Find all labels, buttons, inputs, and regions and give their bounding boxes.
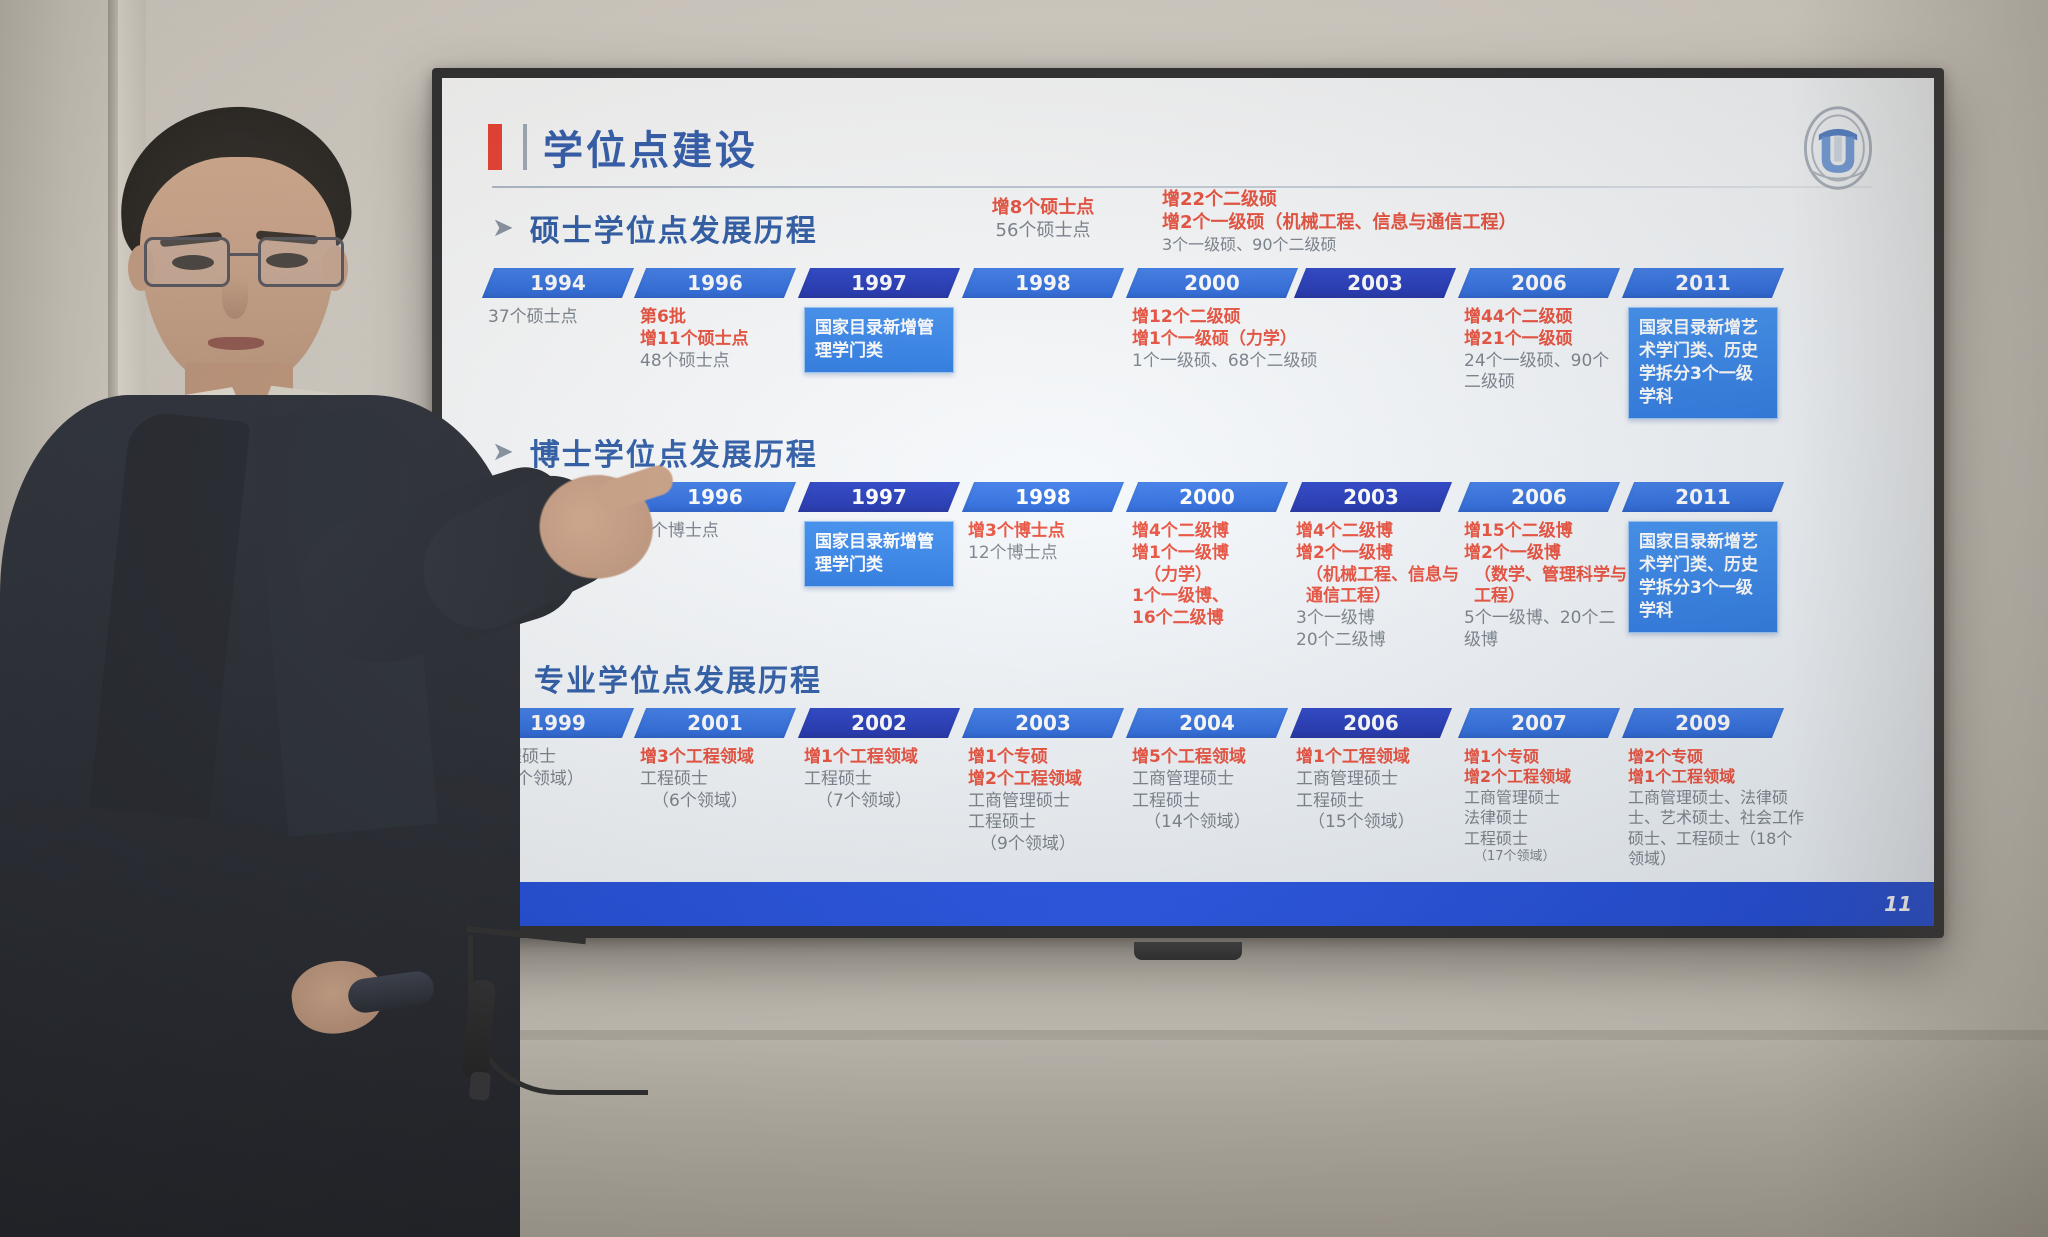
timeline-cell[interactable]: 2011 国家目录新增艺术学门类、历史学拆分3个一级学科 [1628, 482, 1778, 633]
presenter-nose [222, 277, 248, 319]
timeline-cell[interactable]: 2007 增1个专硕 增2个工程领域 工商管理硕士 法律硕士 工程硕士 （17个… [1464, 708, 1614, 866]
timeline-cell[interactable]: 1998 [968, 268, 1118, 298]
cell-line: 工程硕士 [968, 812, 1130, 834]
cell-line: 工商管理硕士、法律硕士、艺术硕士、社会工作硕士、工程硕士（18个领域） [1628, 788, 1804, 870]
cell-line: 增15个二级博 [1464, 521, 1629, 543]
timeline-cell[interactable]: 2002 增1个工程领域 工程硕士 （7个领域） [804, 708, 954, 812]
cell-line: 1个一级硕、68个二级硕 [1132, 351, 1452, 373]
wall-mounted-display[interactable]: 学位点建设 ➤ 硕士学位点发展历程 增8个硕士点 56个硕士点 [432, 68, 1944, 938]
timeline-cell[interactable]: 2003 增1个专硕 增2个工程领域 工商管理硕士 工程硕士 （9个领域） [968, 708, 1118, 856]
cell-line: 20个二级博 [1296, 630, 1464, 652]
cell-line: 1个一级博、 [1132, 586, 1282, 608]
cell-line: 增5个工程领域 [1132, 747, 1302, 769]
timeline-cell[interactable]: 2000 增12个二级硕 增1个一级硕（力学） 1个一级硕、68个二级硕 [1132, 268, 1292, 372]
cell-line: （数学、管理科学与工程） [1464, 565, 1629, 609]
presenter-mouth [208, 337, 264, 350]
year-label: 1997 [804, 268, 954, 298]
cell-line: 工程硕士 [640, 769, 802, 791]
timeline-cell[interactable]: 2001 增3个工程领域 工程硕士 （6个领域） [640, 708, 790, 812]
year-label: 2000 [1132, 482, 1282, 512]
cell-line: 增2个一级博 [1464, 543, 1629, 565]
timeline-row-masters: 1994 37个硕士点 1996 第6批 增11个硕士点 48个硕士点 1997… [488, 268, 1908, 408]
timeline-cell[interactable]: 2006 增44个二级硕 增21个一级硕 24个一级硕、90个二级硕 [1464, 268, 1614, 394]
cell-line: 工程硕士 [1132, 791, 1302, 813]
cell-line: 增44个二级硕 [1464, 307, 1624, 329]
callout-line: 增8个硕士点 [928, 196, 1158, 219]
glasses-lens-right [258, 237, 344, 287]
cell-line: 工商管理硕士 [968, 791, 1130, 813]
callout-masters-1: 增8个硕士点 56个硕士点 [928, 196, 1158, 243]
cell-line: （15个领域） [1296, 812, 1466, 834]
timeline-cell[interactable]: 1997 国家目录新增管理学门类 [804, 482, 954, 587]
presentation-slide: 学位点建设 ➤ 硕士学位点发展历程 增8个硕士点 56个硕士点 [442, 78, 1934, 926]
cell-line: 增3个工程领域 [640, 747, 802, 769]
cell-line: 增12个二级硕 [1132, 307, 1452, 329]
cell-line: 工程硕士 [1464, 829, 1624, 849]
callout-line: 增2个一级硕（机械工程、信息与通信工程） [1162, 211, 1592, 234]
timeline-cell[interactable]: 2003 [1300, 268, 1450, 298]
cell-line: 增3个博士点 [968, 521, 1118, 543]
timeline-cell[interactable]: 2003 增4个二级博 增2个一级博 （机械工程、信息与通信工程） 3个一级博 … [1296, 482, 1446, 652]
timeline-cell[interactable]: 2000 增4个二级博 增1个一级博 （力学） 1个一级博、 16个二级博 [1132, 482, 1282, 630]
year-label: 1996 [640, 268, 790, 298]
slide-footer-bar [442, 882, 1934, 926]
timeline-row-professional: 1999 工程硕士 （3个领域） 2001 增3个工程领域 工程硕士 （6个领域… [488, 708, 1908, 888]
callout-line: 56个硕士点 [928, 219, 1158, 242]
callout-line: 增22个二级硕 [1162, 188, 1592, 211]
cell-line: （7个领域） [804, 791, 966, 813]
year-label: 2006 [1464, 482, 1614, 512]
cell-line: 增21个一级硕 [1464, 329, 1624, 351]
cell-line: 工程硕士 [1296, 791, 1466, 813]
cell-line: 工商管理硕士 [1464, 788, 1624, 808]
year-label: 1997 [804, 482, 954, 512]
cell-line: （17个领域） [1464, 849, 1624, 866]
timeline-cell[interactable]: 2004 增5个工程领域 工商管理硕士 工程硕士 （14个领域） [1132, 708, 1282, 834]
cell-line: 增1个工程领域 [1628, 767, 1804, 787]
hdmi-dongle-tip [469, 1071, 491, 1101]
year-label: 2003 [1296, 482, 1446, 512]
cell-line: 增1个专硕 [968, 747, 1130, 769]
cell-line: 增2个工程领域 [1464, 767, 1624, 787]
year-label: 1998 [968, 482, 1118, 512]
display-screen: 学位点建设 ➤ 硕士学位点发展历程 增8个硕士点 56个硕士点 [442, 78, 1934, 926]
cell-line: 增1个一级博 [1132, 543, 1282, 565]
cell-line: （14个领域） [1132, 812, 1302, 834]
cell-line: 法律硕士 [1464, 808, 1624, 828]
cell-line: 16个二级博 [1132, 608, 1282, 630]
callout-masters-2: 增22个二级硕 增2个一级硕（机械工程、信息与通信工程） 3个一级硕、90个二级… [1162, 188, 1592, 256]
cell-line: 5个一级博、20个二级博 [1464, 608, 1629, 652]
glasses-lens-left [144, 237, 230, 287]
year-label: 2004 [1132, 708, 1282, 738]
cell-line: 9个博士点 [640, 521, 790, 543]
timeline-cell[interactable]: 1998 增3个博士点 12个博士点 [968, 482, 1118, 565]
highlight-box: 国家目录新增艺术学门类、历史学拆分3个一级学科 [1628, 521, 1778, 633]
cell-line: （6个领域） [640, 791, 802, 813]
year-label: 2003 [968, 708, 1118, 738]
timeline-cell[interactable]: 2006 增15个二级博 增2个一级博 （数学、管理科学与工程） 5个一级博、2… [1464, 482, 1614, 652]
timeline-cell[interactable]: 1997 国家目录新增管理学门类 [804, 268, 954, 373]
cell-line: （9个领域） [968, 834, 1130, 856]
cell-line: 增11个硕士点 [640, 329, 790, 351]
cell-line: 工商管理硕士 [1296, 769, 1466, 791]
cell-line: 增1个工程领域 [804, 747, 966, 769]
glasses-bridge [230, 253, 258, 256]
timeline-cell[interactable]: 2006 增1个工程领域 工商管理硕士 工程硕士 （15个领域） [1296, 708, 1446, 834]
year-label: 2000 [1132, 268, 1292, 298]
cell-line: 增4个二级博 [1132, 521, 1282, 543]
year-label: 2001 [640, 708, 790, 738]
timeline-cell[interactable]: 2009 增2个专硕 增1个工程领域 工商管理硕士、法律硕士、艺术硕士、社会工作… [1628, 708, 1778, 870]
year-label: 1998 [968, 268, 1118, 298]
year-label: 2009 [1628, 708, 1778, 738]
timeline-cell[interactable]: 2011 国家目录新增艺术学门类、历史学拆分3个一级学科 [1628, 268, 1778, 419]
cell-line: 工商管理硕士 [1132, 769, 1302, 791]
highlight-box: 国家目录新增管理学门类 [804, 521, 954, 587]
highlight-box: 国家目录新增艺术学门类、历史学拆分3个一级学科 [1628, 307, 1778, 419]
cell-line: 第6批 [640, 307, 790, 329]
highlight-box: 国家目录新增管理学门类 [804, 307, 954, 373]
cell-line: 增1个一级硕（力学） [1132, 329, 1452, 351]
year-label: 2006 [1464, 268, 1614, 298]
year-label: 2011 [1628, 482, 1778, 512]
timeline-cell[interactable]: 1996 第6批 增11个硕士点 48个硕士点 [640, 268, 790, 372]
cell-line: （力学） [1132, 565, 1282, 587]
year-label: 2006 [1296, 708, 1446, 738]
year-label: 2003 [1300, 268, 1450, 298]
year-label: 2002 [804, 708, 954, 738]
cell-line: （机械工程、信息与通信工程） [1296, 565, 1464, 609]
cell-line: 48个硕士点 [640, 351, 790, 373]
cell-line: 增2个工程领域 [968, 769, 1130, 791]
year-label: 2007 [1464, 708, 1614, 738]
cell-line: 增4个二级博 [1296, 521, 1464, 543]
cell-line: 12个博士点 [968, 543, 1118, 565]
callout-line: 3个一级硕、90个二级硕 [1162, 235, 1592, 256]
cell-line: 工程硕士 [804, 769, 966, 791]
wall-shadow [1788, 0, 2048, 1237]
cell-line: 3个一级博 [1296, 608, 1464, 630]
cell-line: 增1个专硕 [1464, 747, 1624, 767]
year-label: 2011 [1628, 268, 1778, 298]
cell-line: 增1个工程领域 [1296, 747, 1466, 769]
timeline-row-doctoral: 9个博士点 1996 9个博士点 1997 国家目录新增管理学门类 1998 增… [488, 482, 1908, 652]
cell-line: 增2个一级博 [1296, 543, 1464, 565]
cell-line: 增2个专硕 [1628, 747, 1804, 767]
cell-line: 24个一级硕、90个二级硕 [1464, 351, 1624, 395]
